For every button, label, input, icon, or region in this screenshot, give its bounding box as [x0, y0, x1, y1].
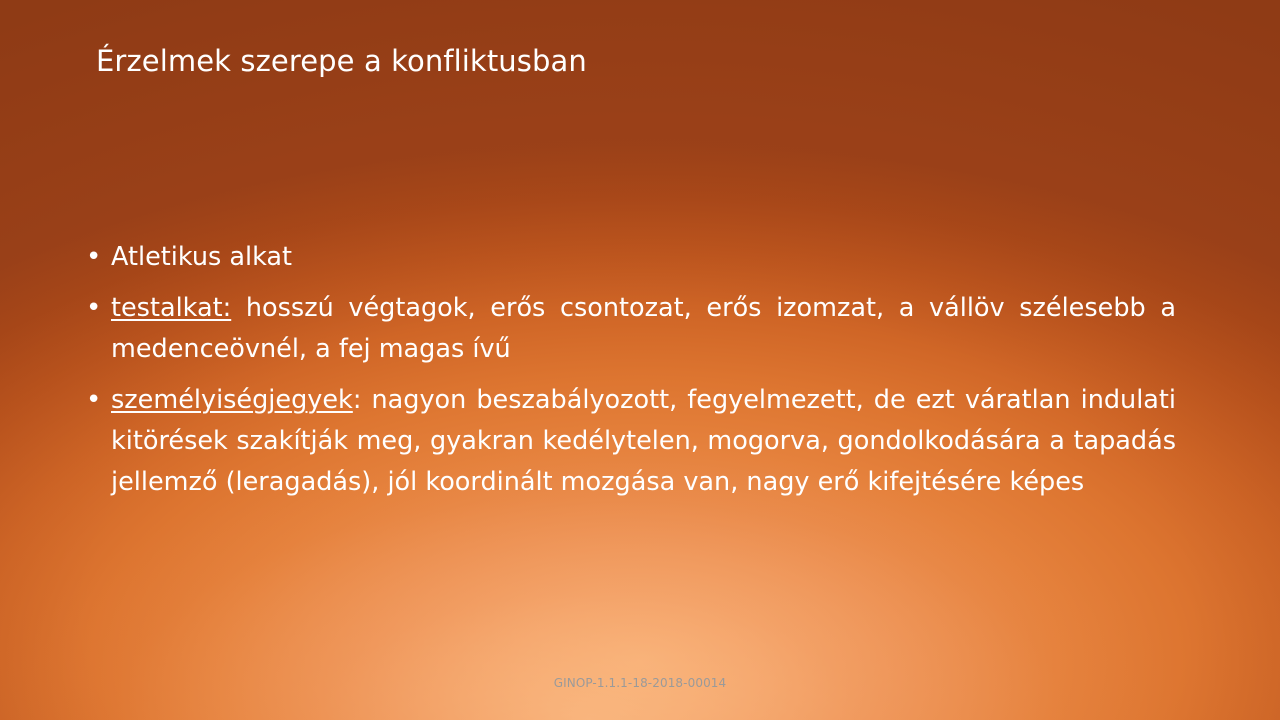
- presentation-slide: Érzelmek szerepe a konfliktusban • Atlet…: [0, 0, 1280, 720]
- list-item-text-testalkat: testalkat: hosszú végtagok, erős csontoz…: [111, 288, 1176, 370]
- list-item-lead: testalkat:: [111, 293, 231, 323]
- slide-body-content: • Atletikus alkat • testalkat: hosszú vé…: [80, 237, 1176, 503]
- slide-footer-project-code: GINOP-1.1.1-18-2018-00014: [0, 676, 1280, 690]
- list-item-lead: személyiségjegyek: [111, 385, 353, 415]
- list-item: • személyiségjegyek: nagyon beszabályozo…: [80, 380, 1176, 503]
- list-item-text-atletikus-alkat: Atletikus alkat: [111, 237, 1176, 278]
- list-item: • Atletikus alkat: [80, 237, 1176, 278]
- bullet-glyph-icon: •: [80, 288, 111, 329]
- slide-title: Érzelmek szerepe a konfliktusban: [96, 43, 1196, 79]
- list-item-body: Atletikus alkat: [111, 242, 292, 272]
- list-item-body: hosszú végtagok, erős csontozat, erős iz…: [111, 293, 1176, 364]
- list-item: • testalkat: hosszú végtagok, erős csont…: [80, 288, 1176, 370]
- bullet-glyph-icon: •: [80, 380, 111, 421]
- list-item-text-szemelyisegjegyek: személyiségjegyek: nagyon beszabályozott…: [111, 380, 1176, 503]
- bullet-glyph-icon: •: [80, 237, 111, 278]
